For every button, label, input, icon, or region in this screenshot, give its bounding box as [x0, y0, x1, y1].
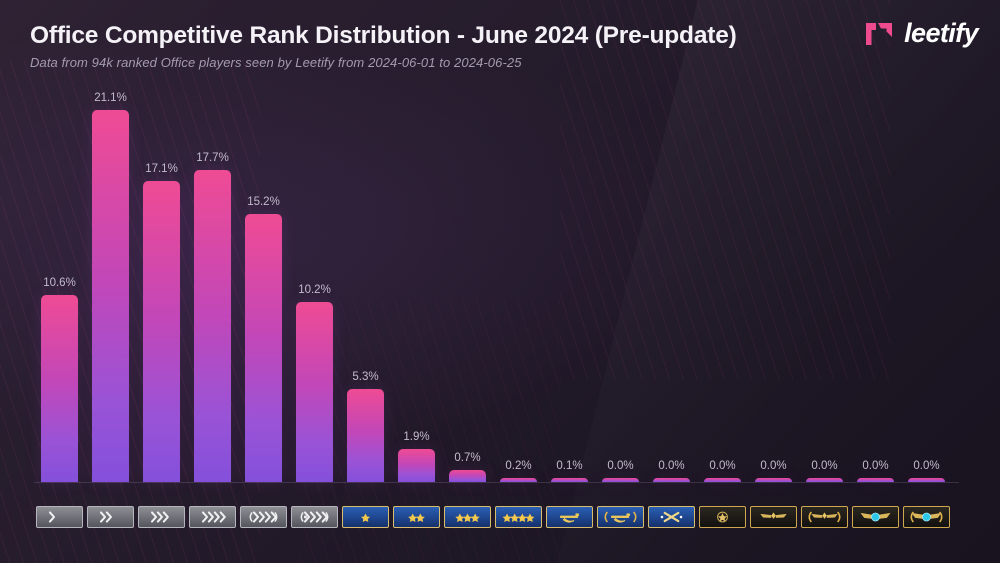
- bar[interactable]: [908, 478, 945, 482]
- x-axis-tick: [799, 505, 850, 529]
- bar-value-label: 1.9%: [391, 431, 442, 443]
- bar-value-label: 17.1%: [136, 163, 187, 175]
- bar-slot[interactable]: 15.2%: [238, 102, 289, 482]
- bar-value-label: 5.3%: [340, 371, 391, 383]
- bar[interactable]: [602, 478, 639, 482]
- bar-value-label: 0.0%: [748, 460, 799, 472]
- x-axis-tick: [340, 505, 391, 529]
- bar-value-label: 0.2%: [493, 460, 544, 472]
- bar-slot[interactable]: 21.1%: [85, 102, 136, 482]
- rank-legendary-eagle-master-icon: [801, 506, 848, 528]
- x-axis-tick: [646, 505, 697, 529]
- bar[interactable]: [347, 389, 384, 482]
- bar-slot[interactable]: 0.0%: [697, 102, 748, 482]
- bar-value-label: 0.0%: [595, 460, 646, 472]
- bar[interactable]: [245, 214, 282, 482]
- bar-slot[interactable]: 10.2%: [289, 102, 340, 482]
- rank-gold-nova-master-icon: [495, 506, 542, 528]
- bar-slot[interactable]: 0.1%: [544, 102, 595, 482]
- bar[interactable]: [398, 449, 435, 482]
- bar-slot[interactable]: 17.7%: [187, 102, 238, 482]
- bar-slot[interactable]: 0.0%: [748, 102, 799, 482]
- chart-header: Office Competitive Rank Distribution - J…: [0, 0, 1000, 88]
- x-axis-tick: [289, 505, 340, 529]
- x-axis-line: [34, 482, 959, 483]
- bar[interactable]: [857, 478, 894, 482]
- bar-value-label: 21.1%: [85, 92, 136, 104]
- rank-silver-3-icon: [138, 506, 185, 528]
- bar[interactable]: [92, 110, 129, 482]
- x-axis-tick: [544, 505, 595, 529]
- x-axis-tick: [391, 505, 442, 529]
- bar[interactable]: [653, 478, 690, 482]
- chart-subtitle: Data from 94k ranked Office players seen…: [30, 55, 522, 70]
- x-axis-tick: [493, 505, 544, 529]
- bar[interactable]: [194, 170, 231, 482]
- bar[interactable]: [755, 478, 792, 482]
- bar-value-label: 0.0%: [850, 460, 901, 472]
- bar-series: 10.6%21.1%17.1%17.7%15.2%10.2%5.3%1.9%0.…: [34, 102, 964, 482]
- brand-logo: leetify: [865, 20, 978, 47]
- rank-global-elite-icon: [903, 506, 950, 528]
- bar-slot[interactable]: 10.6%: [34, 102, 85, 482]
- x-axis-tick: [34, 505, 85, 529]
- x-axis-tick: [238, 505, 289, 529]
- bar-slot[interactable]: 0.0%: [799, 102, 850, 482]
- page-title: Office Competitive Rank Distribution - J…: [30, 22, 737, 50]
- rank-gold-nova-3-icon: [444, 506, 491, 528]
- bar-value-label: 15.2%: [238, 196, 289, 208]
- x-axis-tick: [850, 505, 901, 529]
- rank-silver-4-icon: [189, 506, 236, 528]
- bar-value-label: 0.7%: [442, 452, 493, 464]
- x-axis-tick: [595, 505, 646, 529]
- bar-slot[interactable]: 0.0%: [595, 102, 646, 482]
- bar-slot[interactable]: 0.0%: [646, 102, 697, 482]
- x-axis-tick: [442, 505, 493, 529]
- rank-distinguished-master-guardian-icon: [699, 506, 746, 528]
- chart-canvas: Office Competitive Rank Distribution - J…: [0, 0, 1000, 563]
- rank-silver-elite-master-icon: [291, 506, 338, 528]
- bar-slot[interactable]: 5.3%: [340, 102, 391, 482]
- brand-name: leetify: [904, 20, 978, 47]
- bar-slot[interactable]: 0.2%: [493, 102, 544, 482]
- bar[interactable]: [806, 478, 843, 482]
- bar-value-label: 0.0%: [901, 460, 952, 472]
- rank-supreme-master-first-class-icon: [852, 506, 899, 528]
- bar-value-label: 0.0%: [646, 460, 697, 472]
- chart-plot-area: 10.6%21.1%17.1%17.7%15.2%10.2%5.3%1.9%0.…: [0, 88, 1000, 563]
- bar-value-label: 17.7%: [187, 152, 238, 164]
- bar[interactable]: [143, 181, 180, 482]
- bar-slot[interactable]: 17.1%: [136, 102, 187, 482]
- bar-slot[interactable]: 0.0%: [850, 102, 901, 482]
- x-axis-tick: [697, 505, 748, 529]
- rank-master-guardian-elite-icon: [648, 506, 695, 528]
- x-axis-rank-icons: [34, 505, 964, 529]
- rank-gold-nova-1-icon: [342, 506, 389, 528]
- bar-value-label: 0.0%: [799, 460, 850, 472]
- rank-silver-elite-icon: [240, 506, 287, 528]
- bar[interactable]: [704, 478, 741, 482]
- x-axis-tick: [136, 505, 187, 529]
- bar-value-label: 0.1%: [544, 460, 595, 472]
- bar-value-label: 10.6%: [34, 277, 85, 289]
- rank-silver-1-icon: [36, 506, 83, 528]
- bar[interactable]: [296, 302, 333, 482]
- bar-slot[interactable]: 0.7%: [442, 102, 493, 482]
- bar[interactable]: [551, 478, 588, 482]
- bar-value-label: 10.2%: [289, 284, 340, 296]
- bar-slot[interactable]: 1.9%: [391, 102, 442, 482]
- leetify-logo-icon: [865, 21, 895, 47]
- rank-gold-nova-2-icon: [393, 506, 440, 528]
- x-axis-tick: [901, 505, 952, 529]
- x-axis-tick: [187, 505, 238, 529]
- rank-master-guardian-2-icon: [597, 506, 644, 528]
- x-axis-tick: [748, 505, 799, 529]
- bar[interactable]: [449, 470, 486, 482]
- rank-legendary-eagle-icon: [750, 506, 797, 528]
- bar[interactable]: [41, 295, 78, 482]
- x-axis-tick: [85, 505, 136, 529]
- bar-slot[interactable]: 0.0%: [901, 102, 952, 482]
- bar-value-label: 0.0%: [697, 460, 748, 472]
- rank-silver-2-icon: [87, 506, 134, 528]
- rank-master-guardian-1-icon: [546, 506, 593, 528]
- bar[interactable]: [500, 478, 537, 482]
